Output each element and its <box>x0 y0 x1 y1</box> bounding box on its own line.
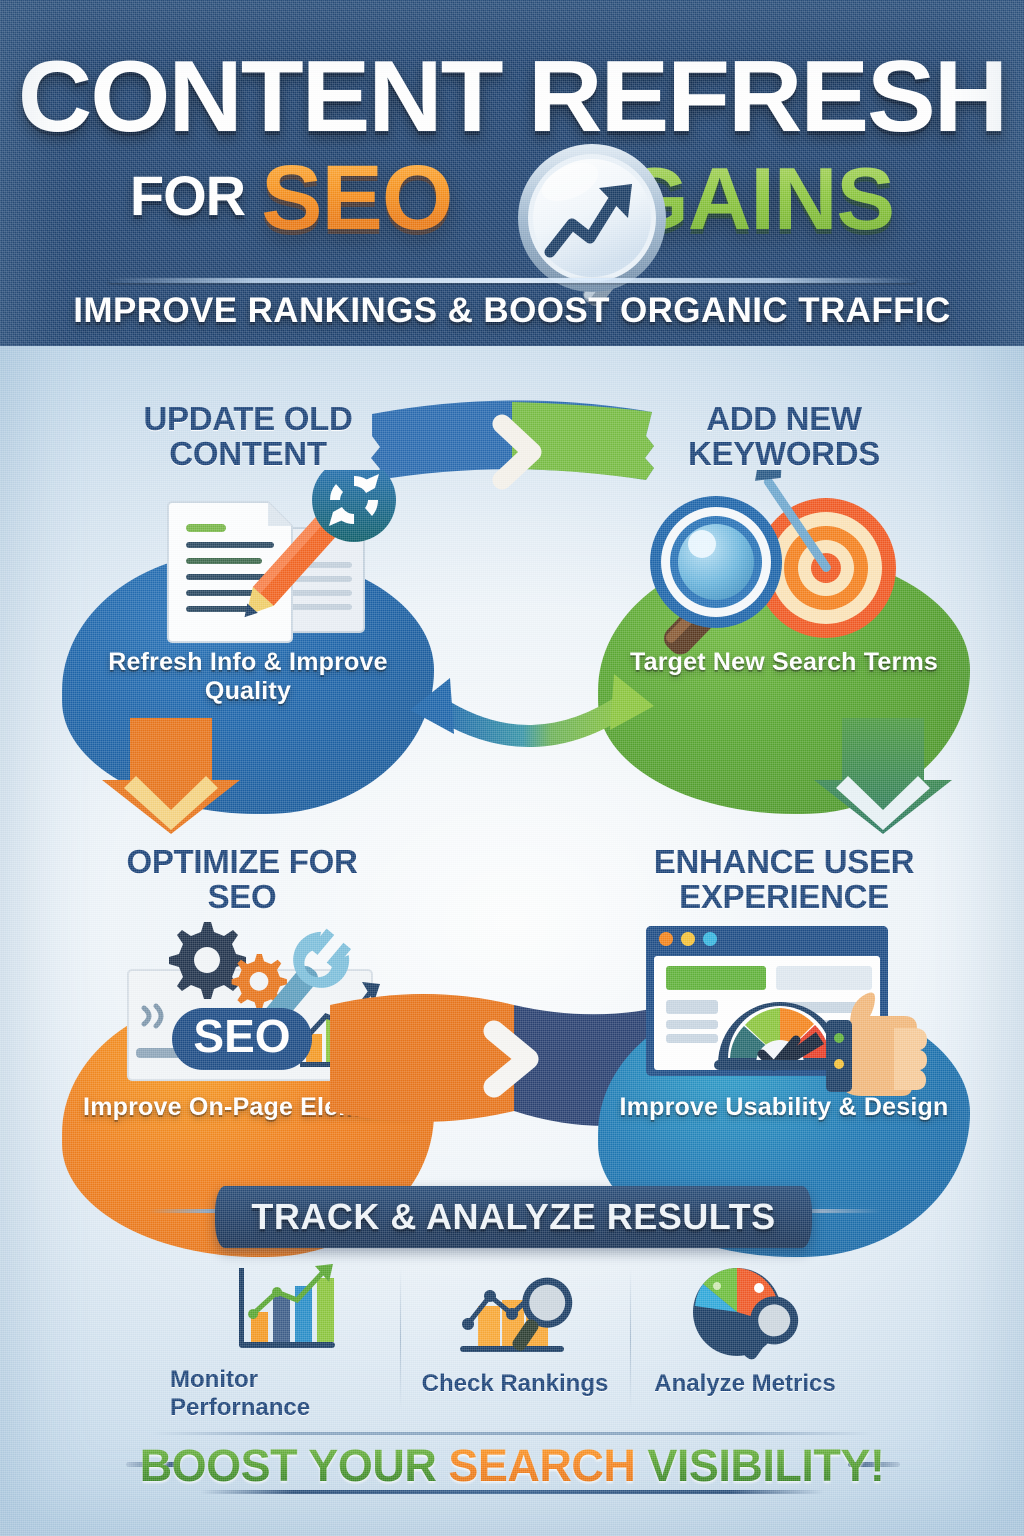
pie-chart-magnifier-icon <box>681 1262 809 1362</box>
cta-top-divider <box>150 1432 874 1435</box>
step-title-line1: OPTIMIZE FOR <box>126 843 357 880</box>
step-title-line1: ADD NEW <box>706 400 862 437</box>
step-title-optimize-for-seo: OPTIMIZE FOR SEO <box>72 845 412 914</box>
infographic-poster: CONTENT REFRESH FORSEOGAINS <box>0 0 1024 1536</box>
step-title-line2: KEYWORDS <box>688 435 880 472</box>
cta-bottom-divider <box>200 1490 824 1494</box>
connector-right-down-arrow <box>808 718 958 843</box>
document-pencil-refresh-icon <box>128 470 408 665</box>
step-title-line2: SEO <box>208 878 277 915</box>
track-item-check-rankings[interactable]: Check Rankings <box>400 1262 630 1417</box>
title-seo-label: SEO <box>261 147 452 249</box>
track-item-analyze-metrics[interactable]: Analyze Metrics <box>630 1262 860 1417</box>
bar-chart-growth-arrow-icon <box>225 1262 345 1358</box>
track-items-grid: Monitor Perfornance <box>170 1262 860 1417</box>
step-title-add-new-keywords: ADD NEW KEYWORDS <box>614 402 954 471</box>
step-title-line1: ENHANCE USER <box>654 843 914 880</box>
track-item-monitor-performance[interactable]: Monitor Perfornance <box>170 1262 400 1417</box>
line-chart-magnifier-icon <box>450 1262 580 1362</box>
track-item-label: Analyze Metrics <box>654 1370 835 1398</box>
browser-gauge-thumbsup-icon <box>640 920 940 1110</box>
header-divider <box>108 278 916 283</box>
magnifier-target-arrow-icon <box>598 470 928 675</box>
header-banner: CONTENT REFRESH FORSEOGAINS <box>0 0 1024 346</box>
header-subtitle: IMPROVE RANKINGS & BOOST ORGANIC TRAFFIC <box>0 291 1024 331</box>
step-title-line2: CONTENT <box>169 435 326 472</box>
title-for-label: FOR <box>130 164 245 227</box>
connector-left-down-arrow <box>96 718 246 843</box>
cta-part-3: VISIBILITY! <box>635 1440 884 1491</box>
cta-text: BOOST YOUR SEARCH VISIBILITY! <box>0 1440 1024 1492</box>
track-banner-title: TRACK & ANALYZE RESULTS <box>251 1196 775 1238</box>
cta-part-2: SEARCH <box>448 1440 635 1491</box>
track-item-label: Check Rankings <box>422 1370 609 1398</box>
step-title-line1: UPDATE OLD <box>143 400 352 437</box>
connector-curved-double-arrow <box>392 652 672 769</box>
track-item-label: Monitor Perfornance <box>170 1366 400 1422</box>
track-analyze-banner: TRACK & ANALYZE RESULTS <box>215 1186 812 1248</box>
cta-part-1: BOOST YOUR <box>140 1440 449 1491</box>
svg-text:SEO: SEO <box>193 1010 290 1062</box>
step-title-enhance-user-experience: ENHANCE USER EXPERIENCE <box>614 845 954 914</box>
step-title-line2: EXPERIENCE <box>679 878 889 915</box>
magnifier-growth-chart-icon <box>498 140 708 315</box>
page-title: CONTENT REFRESH <box>0 48 1024 147</box>
step-title-update-old-content: UPDATE OLD CONTENT <box>78 402 418 471</box>
